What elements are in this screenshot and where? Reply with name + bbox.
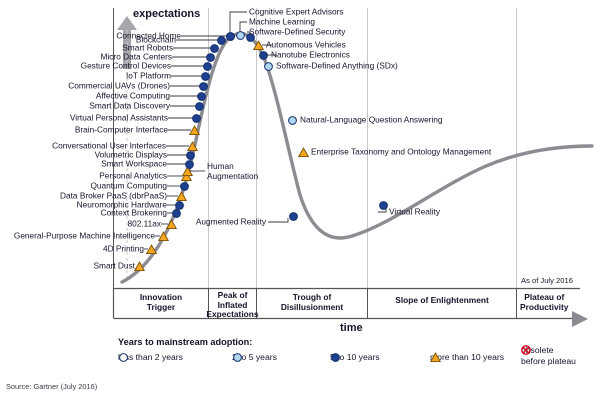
data-point-label: 4D Printing [103,244,144,253]
data-point-label: Virtual Reality [389,207,440,216]
dark-circle-icon [196,91,207,102]
data-point-label: Machine Learning [249,17,315,26]
data-point-label: IoT Platform [126,71,171,80]
data-point-label: Cognitive Expert Advisors [249,7,344,16]
data-point-label: Neuromorphic Hardware [77,200,167,209]
hype-cycle-chart: expectations time As of July 2016 Smart … [0,0,600,400]
data-point-label: General-Purpose Machine Intelligence [14,231,155,240]
data-point-label: 802.11ax [127,219,161,228]
triangle-icon [166,219,177,230]
triangle-icon [298,147,309,158]
data-point-label: Smart Data Discovery [89,101,170,110]
data-point-label: Software-Defined Security [249,27,345,36]
dark-circle-icon [378,200,389,211]
triangle-icon [430,352,441,363]
phase-label-slope-of-enlightenment: Slope of Enlightenment [395,296,489,306]
data-point-label: Context Brokering [101,208,167,217]
data-point-label: Personal Analytics [99,171,167,180]
data-point-label: Conversational User Interfaces [52,141,166,150]
legend-obsolete: obsolete before plateau [521,345,576,366]
crossed-circle-icon [521,345,531,355]
light-circle-icon [232,352,243,363]
data-point-label: Virtual Personal Assistants [70,113,168,122]
source-note: Source: Gartner (July 2016) [6,382,97,391]
dark-circle-icon [194,101,205,112]
data-point-label: Commercial UAVs (Drones) [68,81,170,90]
light-circle-icon [287,115,298,126]
data-point-label: Augmented Reality [196,217,266,226]
triangle-icon [146,244,157,255]
dark-circle-icon [330,352,341,363]
legend-item-label: more than 10 years [430,352,504,362]
data-point-label: Smart Workspace [101,159,167,168]
legend-obsolete-line2: before plateau [521,356,576,367]
open-circle-icon [118,352,129,363]
legend-item: less than 2 years [118,352,183,362]
phase-label-plateau-of-productivity: Plateau ofProductivity [520,293,568,312]
data-point-label: Brain-Computer Interface [75,125,168,134]
phase-label-innovation-trigger: InnovationTrigger [140,293,182,312]
light-circle-icon [263,61,274,72]
dark-circle-icon [191,113,202,124]
phase-label-peak-of-inflated-expectations: Peak ofInflatedExpectations [206,291,258,320]
data-point-label: Micro Data Centers [101,52,172,61]
data-point-label: Affective Computing [96,91,170,100]
dark-circle-icon [288,211,299,222]
legend-title: Years to mainstream adoption: [118,337,252,347]
dark-circle-icon [258,50,269,61]
time-axis-arrow [572,311,588,327]
dark-circle-icon [200,71,211,82]
triangle-icon [189,125,200,136]
data-point-label: Nanotube Electronics [271,50,350,59]
data-point-label: Connected Home [116,31,181,40]
data-point-label: Enterprise Taxonomy and Ontology Managem… [311,147,491,156]
y-axis-title: expectations [133,8,200,20]
data-point-label: Data Broker PaaS (dbrPaaS) [60,191,167,200]
legend-item: 5 to 10 years [330,352,380,362]
data-point-label: Volumetric Displays [95,150,167,159]
x-axis-title: time [340,322,363,334]
triangle-icon [187,141,198,152]
data-point-label: Quantum Computing [90,181,167,190]
triangle-icon [158,231,169,242]
as-of-label: As of July 2016 [521,276,573,285]
data-point-label: Autonomous Vehicles [266,40,346,49]
data-point-label: Smart Dust [94,261,136,270]
data-point-label: Natural-Language Question Answering [300,115,443,124]
dark-circle-icon [198,81,209,92]
legend-item: more than 10 years [430,352,504,362]
data-point-label: Human Augmentation [207,161,277,181]
phase-label-trough-of-disillusionment: Trough ofDisillusionment [281,293,343,312]
legend-item: 2 to 5 years [232,352,277,362]
dark-circle-icon [179,181,190,192]
triangle-icon [176,191,187,202]
data-point-label: Gesture Control Devices [81,61,171,70]
data-point-label: Smart Robots [122,43,173,52]
data-point-label: Software-Defined Anything (SDx) [276,61,398,70]
